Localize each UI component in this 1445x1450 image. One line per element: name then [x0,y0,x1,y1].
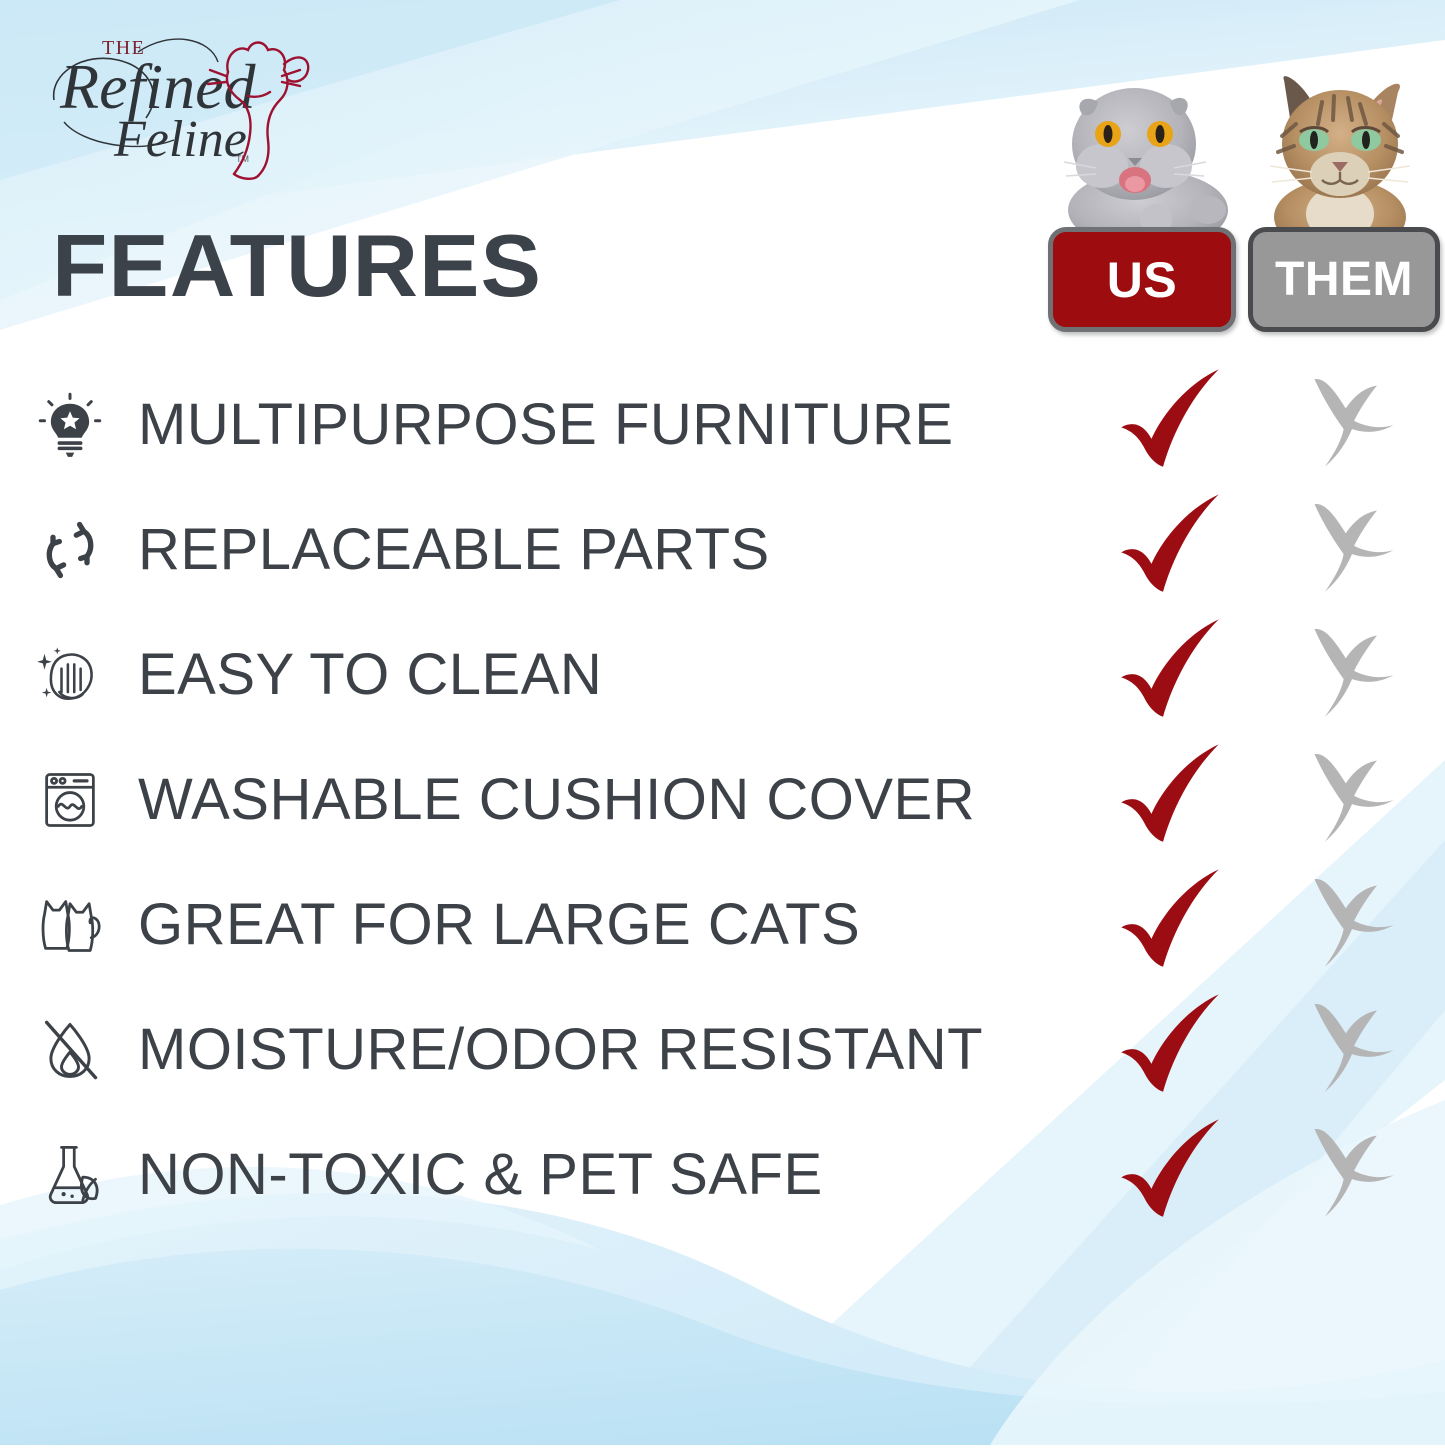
feature-row: REPLACEABLE PARTS [0,487,1445,612]
cross-mark-icon [1300,873,1404,977]
check-mark-icon [1112,992,1228,1108]
feature-label: EASY TO CLEAN [138,646,602,704]
features-list: MULTIPURPOSE FURNITURE [0,362,1445,1237]
lightbulb-star-icon [32,387,108,463]
feature-row: MOISTURE/ODOR RESISTANT [0,987,1445,1112]
feature-label: MOISTURE/ODOR RESISTANT [138,1021,983,1079]
feature-label: NON-TOXIC & PET SAFE [138,1146,823,1204]
check-mark-icon [1112,867,1228,983]
feature-row: WASHABLE CUSHION COVER [0,737,1445,862]
check-mark-icon [1112,492,1228,608]
two-cats-icon [32,887,108,963]
badge-them[interactable]: THEM [1248,227,1440,332]
feature-row: GREAT FOR LARGE CATS [0,862,1445,987]
check-mark-icon [1112,742,1228,858]
cross-mark-icon [1300,623,1404,727]
logo-feline-text: Feline [113,111,247,168]
check-mark-icon [1112,367,1228,483]
flask-leaf-icon [32,1137,108,1213]
check-mark-icon [1112,617,1228,733]
feature-row: EASY TO CLEAN [0,612,1445,737]
them-cat-photo [1260,62,1420,237]
cross-mark-icon [1300,373,1404,477]
brand-logo: Refined Feline THE TM [42,22,342,182]
no-water-drop-icon [32,1012,108,1088]
feature-label: MULTIPURPOSE FURNITURE [138,396,954,454]
cleaning-hand-sparkle-icon [32,637,108,713]
feature-label: REPLACEABLE PARTS [138,521,770,579]
badge-us[interactable]: US [1048,227,1236,332]
us-cat-photo [1056,70,1236,235]
feature-row: NON-TOXIC & PET SAFE [0,1112,1445,1237]
cross-mark-icon [1300,998,1404,1102]
comparison-header: US THEM [1048,62,1440,332]
logo-the-text: THE [102,37,145,59]
page-title: FEATURES [52,222,542,310]
feature-row: MULTIPURPOSE FURNITURE [0,362,1445,487]
feature-label: WASHABLE CUSHION COVER [138,771,975,829]
washing-machine-icon [32,762,108,838]
cross-mark-icon [1300,748,1404,852]
cross-mark-icon [1300,498,1404,602]
feature-label: GREAT FOR LARGE CATS [138,896,860,954]
check-mark-icon [1112,1117,1228,1233]
cross-mark-icon [1300,1123,1404,1227]
refresh-arrows-icon [32,512,108,588]
